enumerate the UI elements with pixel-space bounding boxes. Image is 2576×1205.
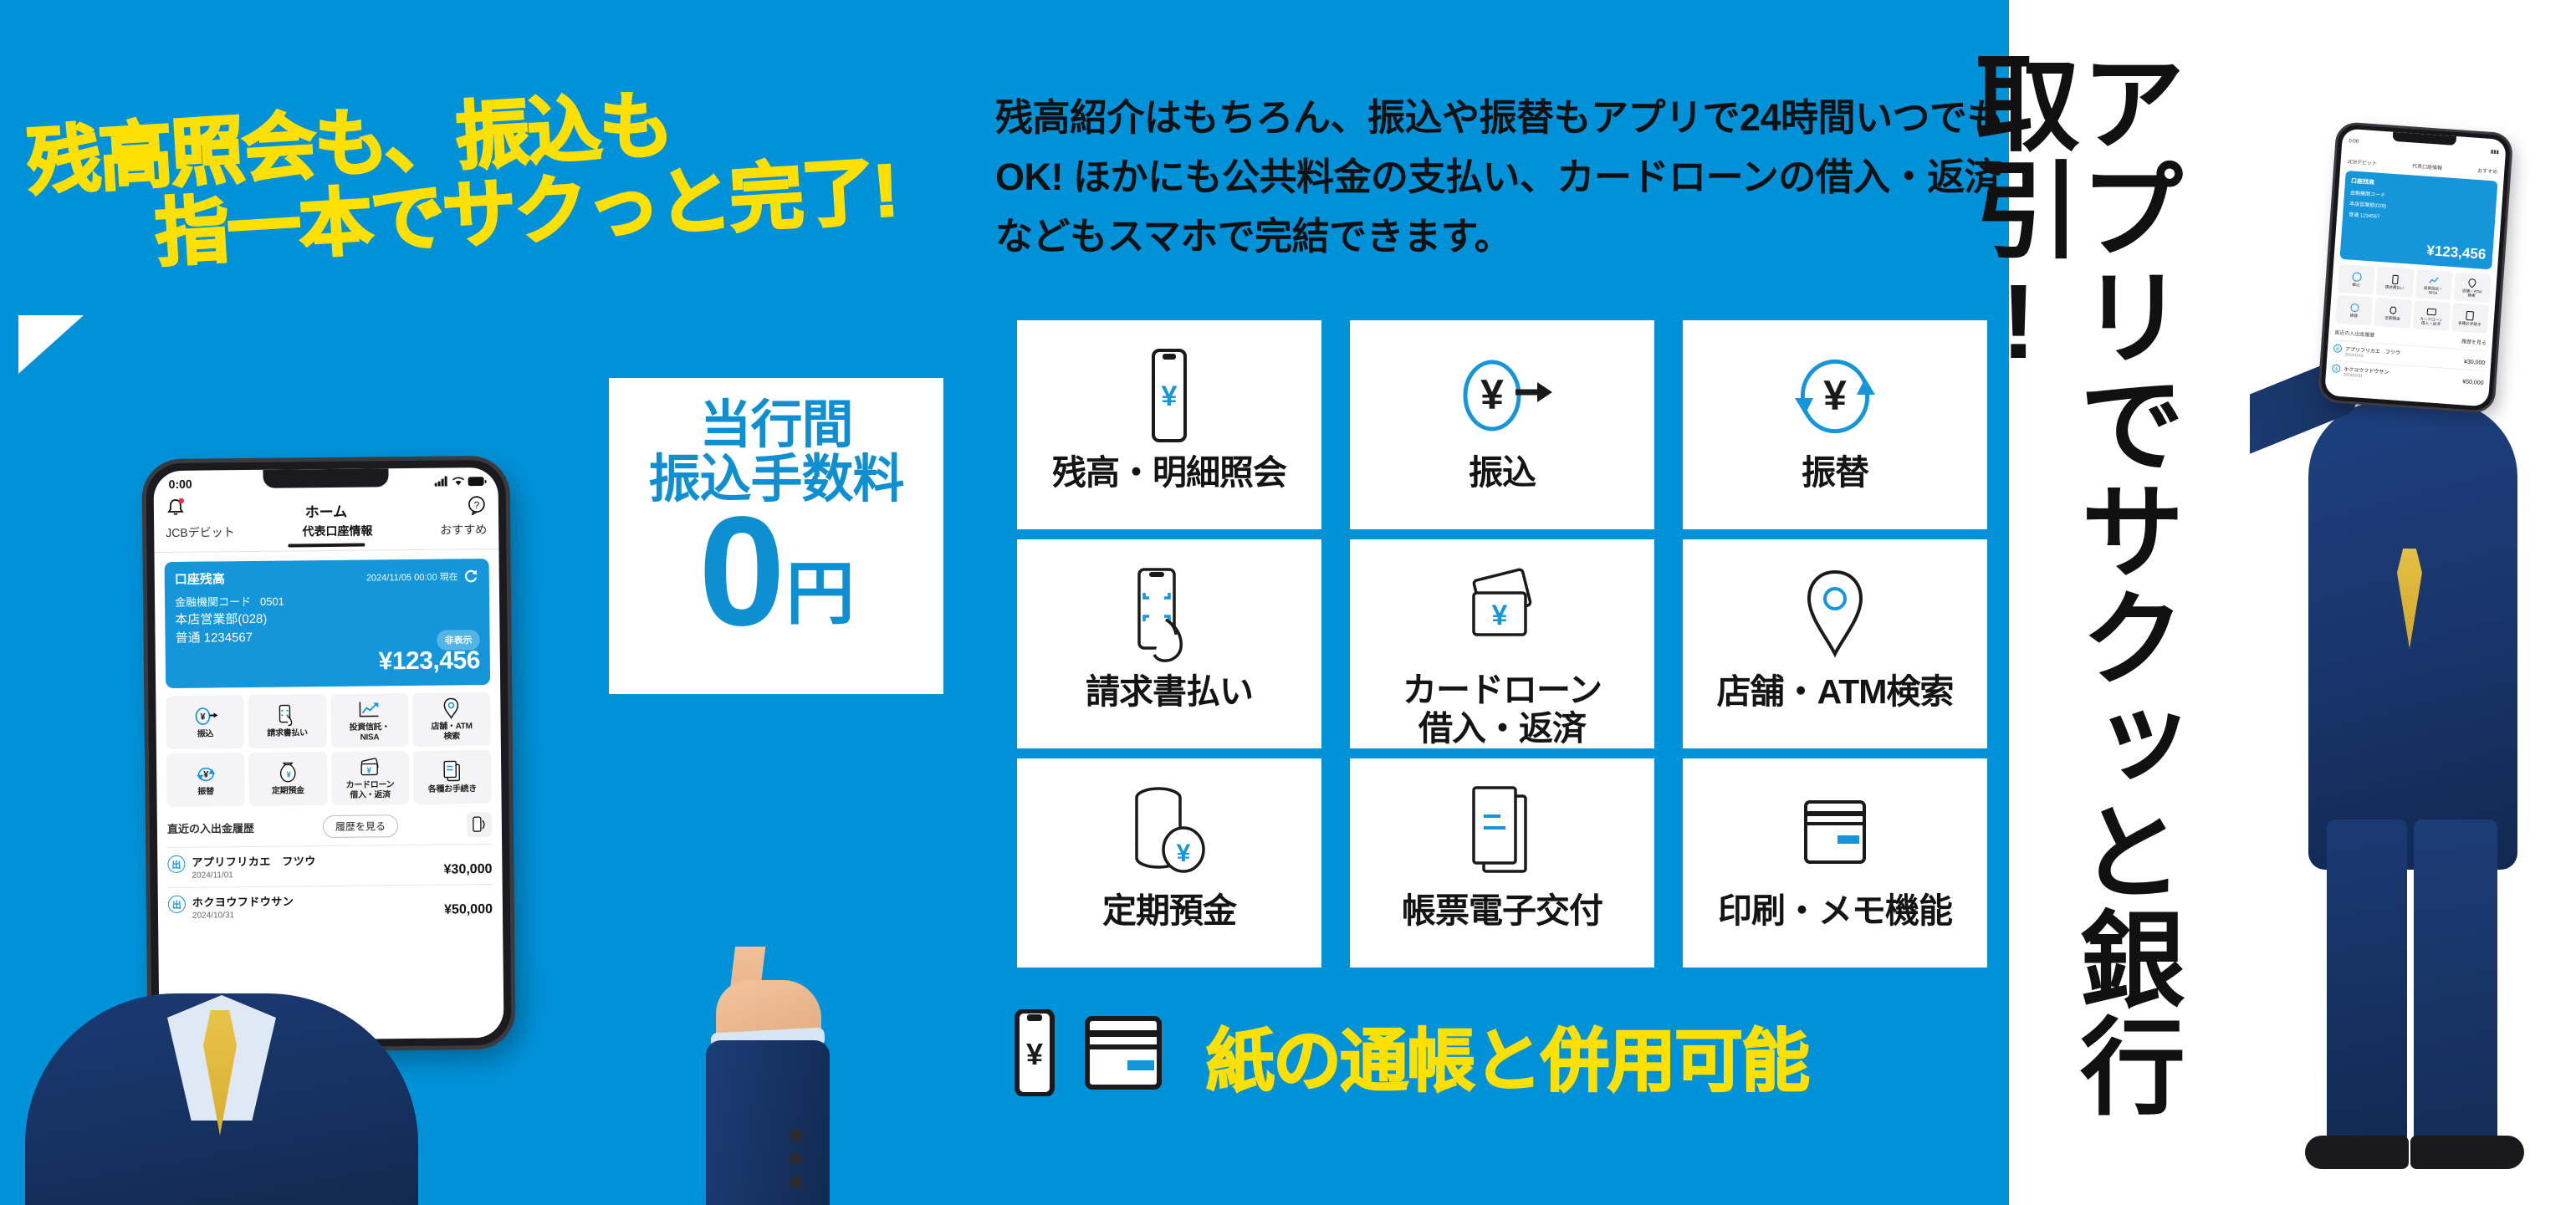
phone-scan-hand-icon <box>1129 561 1209 668</box>
app-menu-investment[interactable]: 投資信託・ NISA <box>330 693 409 748</box>
vertical-catchphrase: アプリでサクッと銀行取引! <box>2051 49 2176 1161</box>
app-menu-label: 投資信託・ NISA <box>349 722 390 743</box>
cards-yen-icon <box>2426 305 2437 316</box>
document-icon <box>1462 780 1542 887</box>
refresh-icon[interactable] <box>463 568 479 585</box>
transaction-amount-small: ¥50,000 <box>2462 379 2484 386</box>
history-title-small: 直近の入出金履歴 <box>2334 328 2375 338</box>
documents-icon <box>442 760 462 782</box>
feature-card-time-deposit[interactable]: ¥ 定期預金 <box>1017 758 1321 968</box>
feature-card-account-transfer[interactable]: ¥ 振替 <box>1683 320 1987 529</box>
yen-cycle-icon <box>2349 302 2360 313</box>
feature-card-label: 請求書払い <box>1086 673 1253 712</box>
transaction-amount: ¥50,000 <box>444 902 493 918</box>
balance-card-title: 口座残高 <box>175 569 225 588</box>
app-menu-label: 各種お手続き <box>428 784 477 794</box>
app-menu-label-small: 投資信託・ NISA <box>2423 286 2443 296</box>
app-menu-atm-search[interactable]: 店舗・ATM 検索 <box>412 692 491 747</box>
history-title: 直近の入出金履歴 <box>167 819 254 835</box>
bank-code-value: 0501 <box>260 595 284 608</box>
phone-yen-icon: ¥ <box>1137 342 1202 449</box>
hide-balance-button[interactable]: 非表示 <box>437 630 479 651</box>
app-menu-label-small: 振込 <box>2352 283 2360 288</box>
app-menu-label-small: 各種お手続き <box>2458 321 2481 327</box>
app-phone-mockup-small: 0:00 ▮▮▮ JCBデビット 代表口座情報 おすすめ 口座残高 金融機関コー… <box>2320 124 2512 411</box>
left-leg <box>2327 820 2407 1154</box>
signal-icon <box>435 476 449 486</box>
app-phone-mockup: 0:00 ホーム <box>146 460 511 1049</box>
app-menu-account-transfer-small[interactable]: 振替 <box>2335 295 2374 326</box>
svg-text:¥: ¥ <box>1480 371 1504 418</box>
view-history-button[interactable]: 履歴を見る <box>323 814 398 838</box>
branch-name: 本店営業部(028) <box>175 607 479 628</box>
feature-card-label: カードローン 借入・返済 <box>1403 671 1602 748</box>
yen-arrow-icon <box>2351 271 2362 282</box>
description-text: 残高紹介はもちろん、振込や振替もアプリで24時間いつでもOK! ほかにも公共料金… <box>995 88 2024 266</box>
app-tabs: JCBデビット 代表口座情報 おすすめ <box>154 519 498 541</box>
tab-jcb-debit-small[interactable]: JCBデビット <box>2347 157 2377 166</box>
app-menu-label: 振込 <box>197 729 214 739</box>
feature-card-label: 振込 <box>1469 454 1536 493</box>
feature-card-print-memo[interactable]: 印刷・メモ機能 <box>1683 758 1987 968</box>
businessman-left-figure <box>0 962 585 1205</box>
yen-cycle-icon: ¥ <box>1785 342 1885 449</box>
yen-arrow-icon: ¥ <box>192 705 217 727</box>
sleeve-buttons <box>790 1129 802 1199</box>
feature-card-electronic-statement[interactable]: 帳票電子交付 <box>1350 758 1654 968</box>
app-menu-transfer[interactable]: ¥ 振込 <box>166 695 244 749</box>
feature-card-invoice-payment[interactable]: 請求書払い <box>1017 539 1321 748</box>
app-menu-card-loan-small[interactable]: カードローン 借入・返済 <box>2412 300 2451 331</box>
app-menu-label: カードローン 借入・返済 <box>346 780 395 800</box>
cards-yen-icon: ¥ <box>1452 561 1552 666</box>
transaction-amount: ¥30,000 <box>444 862 493 878</box>
businessman-right-figure <box>2250 351 2576 1205</box>
transaction-name: アプリフリカエ フツウ <box>192 851 437 870</box>
yen-arrow-icon: ¥ <box>1450 342 1554 449</box>
balloon-line-1: 当行間 <box>609 398 943 452</box>
feature-card-label: 残高・明細照会 <box>1052 454 1286 493</box>
balance-amount-small: ¥123,456 <box>2426 243 2487 263</box>
feature-card-label: 店舗・ATM検索 <box>1717 673 1954 712</box>
bank-code-row: 金融機関コード 0501 <box>175 590 479 610</box>
app-menu-label-small: 店舗・ATM 検索 <box>2461 288 2481 299</box>
transaction-badge-small: 出 <box>2333 344 2343 353</box>
svg-text:¥: ¥ <box>1026 1037 1043 1071</box>
app-menu-account-transfer[interactable]: ¥ 振替 <box>166 753 245 807</box>
transaction-badge: 出 <box>167 855 185 873</box>
app-nav-title: ホーム <box>305 500 348 522</box>
advertisement-banner: 残高照会も、振込も 指一本でサクっと完了! 残高紹介はもちろん、振込や振替もアプ… <box>0 0 2576 1205</box>
passbook-card-icon <box>1082 1014 1166 1096</box>
phone-yen-icon: ¥ <box>1009 1009 1061 1100</box>
coins-yen-icon: ¥ <box>1123 780 1215 887</box>
feature-card-balance-detail[interactable]: ¥ 残高・明細照会 <box>1017 320 1321 529</box>
svg-text:¥: ¥ <box>1162 380 1178 412</box>
right-leg <box>2414 820 2497 1154</box>
app-menu-grid: ¥ 振込 請求書払い 投資信託・ NISA <box>166 692 491 807</box>
status-time: 0:00 <box>169 477 192 491</box>
svg-text:¥: ¥ <box>1492 600 1508 631</box>
transaction-date: 2024/11/01 <box>192 869 437 881</box>
transaction-row: 出 ホクヨウフドウサン 2024/10/31 ¥50,000 <box>168 884 493 921</box>
map-pin-icon <box>1799 561 1871 668</box>
app-screen-small: 0:00 ▮▮▮ JCBデビット 代表口座情報 おすすめ 口座残高 金融機関コー… <box>2324 129 2507 407</box>
map-pin-icon <box>2467 277 2478 288</box>
feature-grid: ¥ 残高・明細照会 ¥ 振込 <box>1017 320 1987 968</box>
tab-recommend-small[interactable]: おすすめ <box>2477 166 2498 176</box>
feature-card-transfer[interactable]: ¥ 振込 <box>1350 320 1654 529</box>
status-time-small: 0:00 <box>2348 139 2359 158</box>
transaction-row: 出 アプリフリカエ フツウ 2024/11/01 ¥30,000 <box>167 844 492 881</box>
help-icon[interactable]: ? <box>467 495 487 519</box>
fee-callout-balloon: 当行間 振込手数料 0 円 <box>609 378 943 694</box>
app-menu-label: 店舗・ATM 検索 <box>431 722 472 742</box>
balance-card-small: 口座残高 金融機関コード 本店営業部(028) 普通 1234567 ¥123,… <box>2340 171 2498 269</box>
feature-card-label: 印刷・メモ機能 <box>1718 892 1952 931</box>
transaction-amount-small: ¥30,000 <box>2464 359 2486 366</box>
feature-card-label: 振替 <box>1802 454 1868 493</box>
balance-card: 口座残高 2024/11/05 00:00 現在 金融機関コード 050 <box>165 559 491 688</box>
svg-text:¥: ¥ <box>1823 372 1847 419</box>
bank-code-label: 金融機関コード <box>175 595 251 609</box>
left-shoe <box>2305 1136 2409 1169</box>
app-menu-label: 定期預金 <box>272 786 304 796</box>
battery-icon <box>468 477 487 486</box>
app-menu-grid-small: 振込 請求書払い 投資信託・ NISA 店舗・ATM 検索 振替 定期預金 カー… <box>2335 264 2492 334</box>
app-menu-procedures-small[interactable]: 各種お手続き <box>2451 303 2490 334</box>
passbook-compatible-strip: ¥ 紙の通帳と併用可能 <box>1009 1005 1808 1105</box>
history-header: 直近の入出金履歴 履歴を見る <box>167 812 492 840</box>
credit-card-icon <box>1791 780 1879 887</box>
phone-scan-hand-icon <box>2389 273 2400 284</box>
chart-up-icon <box>358 698 380 720</box>
app-menu-transfer-small[interactable]: 振込 <box>2338 264 2376 295</box>
app-menu-investment-small[interactable]: 投資信託・ NISA <box>2415 269 2453 300</box>
cards-yen-icon: ¥ <box>358 756 381 778</box>
balloon-yen-unit: 円 <box>786 560 854 629</box>
transaction-date: 2024/10/31 <box>192 909 437 921</box>
tab-jcb-debit[interactable]: JCBデビット <box>166 523 235 541</box>
phone-scan-hand-icon <box>277 704 297 726</box>
transaction-name: ホクヨウフドウサン <box>192 891 437 910</box>
app-menu-time-deposit-small[interactable]: 定期預金 <box>2374 298 2412 329</box>
pointing-arm <box>686 947 845 1205</box>
balance-as-of: 2024/11/05 00:00 現在 <box>366 569 458 584</box>
app-menu-time-deposit[interactable]: ¥ 定期預金 <box>248 752 327 806</box>
balloon-zero: 0 <box>698 502 784 641</box>
app-nav-row: ホーム ? <box>154 491 498 523</box>
svg-text:¥: ¥ <box>200 712 206 722</box>
account-number: 普通 1234567 <box>175 625 479 646</box>
money-bag-icon <box>2388 304 2399 315</box>
tab-active-indicator <box>288 544 365 548</box>
chart-up-icon <box>2429 274 2440 285</box>
svg-text:?: ? <box>473 499 479 511</box>
phone-notch <box>263 468 388 488</box>
app-menu-atm-search-small[interactable]: 店舗・ATM 検索 <box>2453 272 2492 303</box>
transaction-badge: 出 <box>168 896 186 913</box>
feature-card-label: 定期預金 <box>1102 892 1236 931</box>
app-menu-label-small: 振替 <box>2350 314 2359 319</box>
app-menu-label-small: 請求書払い <box>2384 285 2404 291</box>
svg-text:¥: ¥ <box>1177 840 1191 867</box>
yen-cycle-icon: ¥ <box>195 763 217 784</box>
app-menu-label: 振替 <box>197 787 214 797</box>
app-menu-card-loan[interactable]: ¥ カードローン 借入・返済 <box>330 751 409 805</box>
feature-card-branch-atm-search[interactable]: 店舗・ATM検索 <box>1683 539 1987 748</box>
feature-card-label: 帳票電子交付 <box>1402 892 1602 931</box>
svg-text:¥: ¥ <box>286 770 291 779</box>
view-history-button-small[interactable]: 履歴を見る <box>2461 337 2487 346</box>
balloon-tail <box>18 315 84 374</box>
documents-icon <box>2465 310 2476 321</box>
transaction-badge-small: 出 <box>2332 364 2341 373</box>
app-menu-label-small: 定期預金 <box>2384 316 2400 321</box>
bell-notification-icon[interactable] <box>166 497 186 523</box>
balance-amount: ¥123,456 <box>176 646 480 678</box>
app-screen: 0:00 ホーム <box>153 467 503 1041</box>
money-bag-icon: ¥ <box>278 762 298 784</box>
app-menu-invoice-small[interactable]: 請求書払い <box>2376 267 2415 298</box>
map-pin-icon <box>443 697 460 719</box>
app-menu-invoice[interactable]: 請求書払い <box>248 694 327 748</box>
app-menu-procedures[interactable]: 各種お手続き <box>413 750 492 804</box>
app-menu-label: 請求書払い <box>267 728 308 738</box>
tab-main-account-small[interactable]: 代表口座情報 <box>2412 161 2443 171</box>
passbook-compatible-text: 紙の通帳と併用可能 <box>1206 1005 1808 1105</box>
tabs-divider <box>154 549 498 553</box>
wifi-icon <box>452 476 465 486</box>
tab-main-account[interactable]: 代表口座情報 <box>302 522 372 539</box>
svg-text:¥: ¥ <box>366 766 371 775</box>
status-icons-small: ▮▮▮ <box>2490 149 2499 168</box>
app-menu-label-small: カードローン 借入・返済 <box>2420 316 2443 326</box>
tab-recommend[interactable]: おすすめ <box>440 521 487 539</box>
svg-text:¥: ¥ <box>203 769 209 779</box>
suit-sleeve <box>706 1040 830 1205</box>
passbook-code-icon[interactable] <box>467 812 492 837</box>
right-shoe <box>2410 1136 2524 1169</box>
suit-body <box>2308 401 2517 870</box>
feature-card-card-loan[interactable]: ¥ カードローン 借入・返済 <box>1350 539 1654 748</box>
